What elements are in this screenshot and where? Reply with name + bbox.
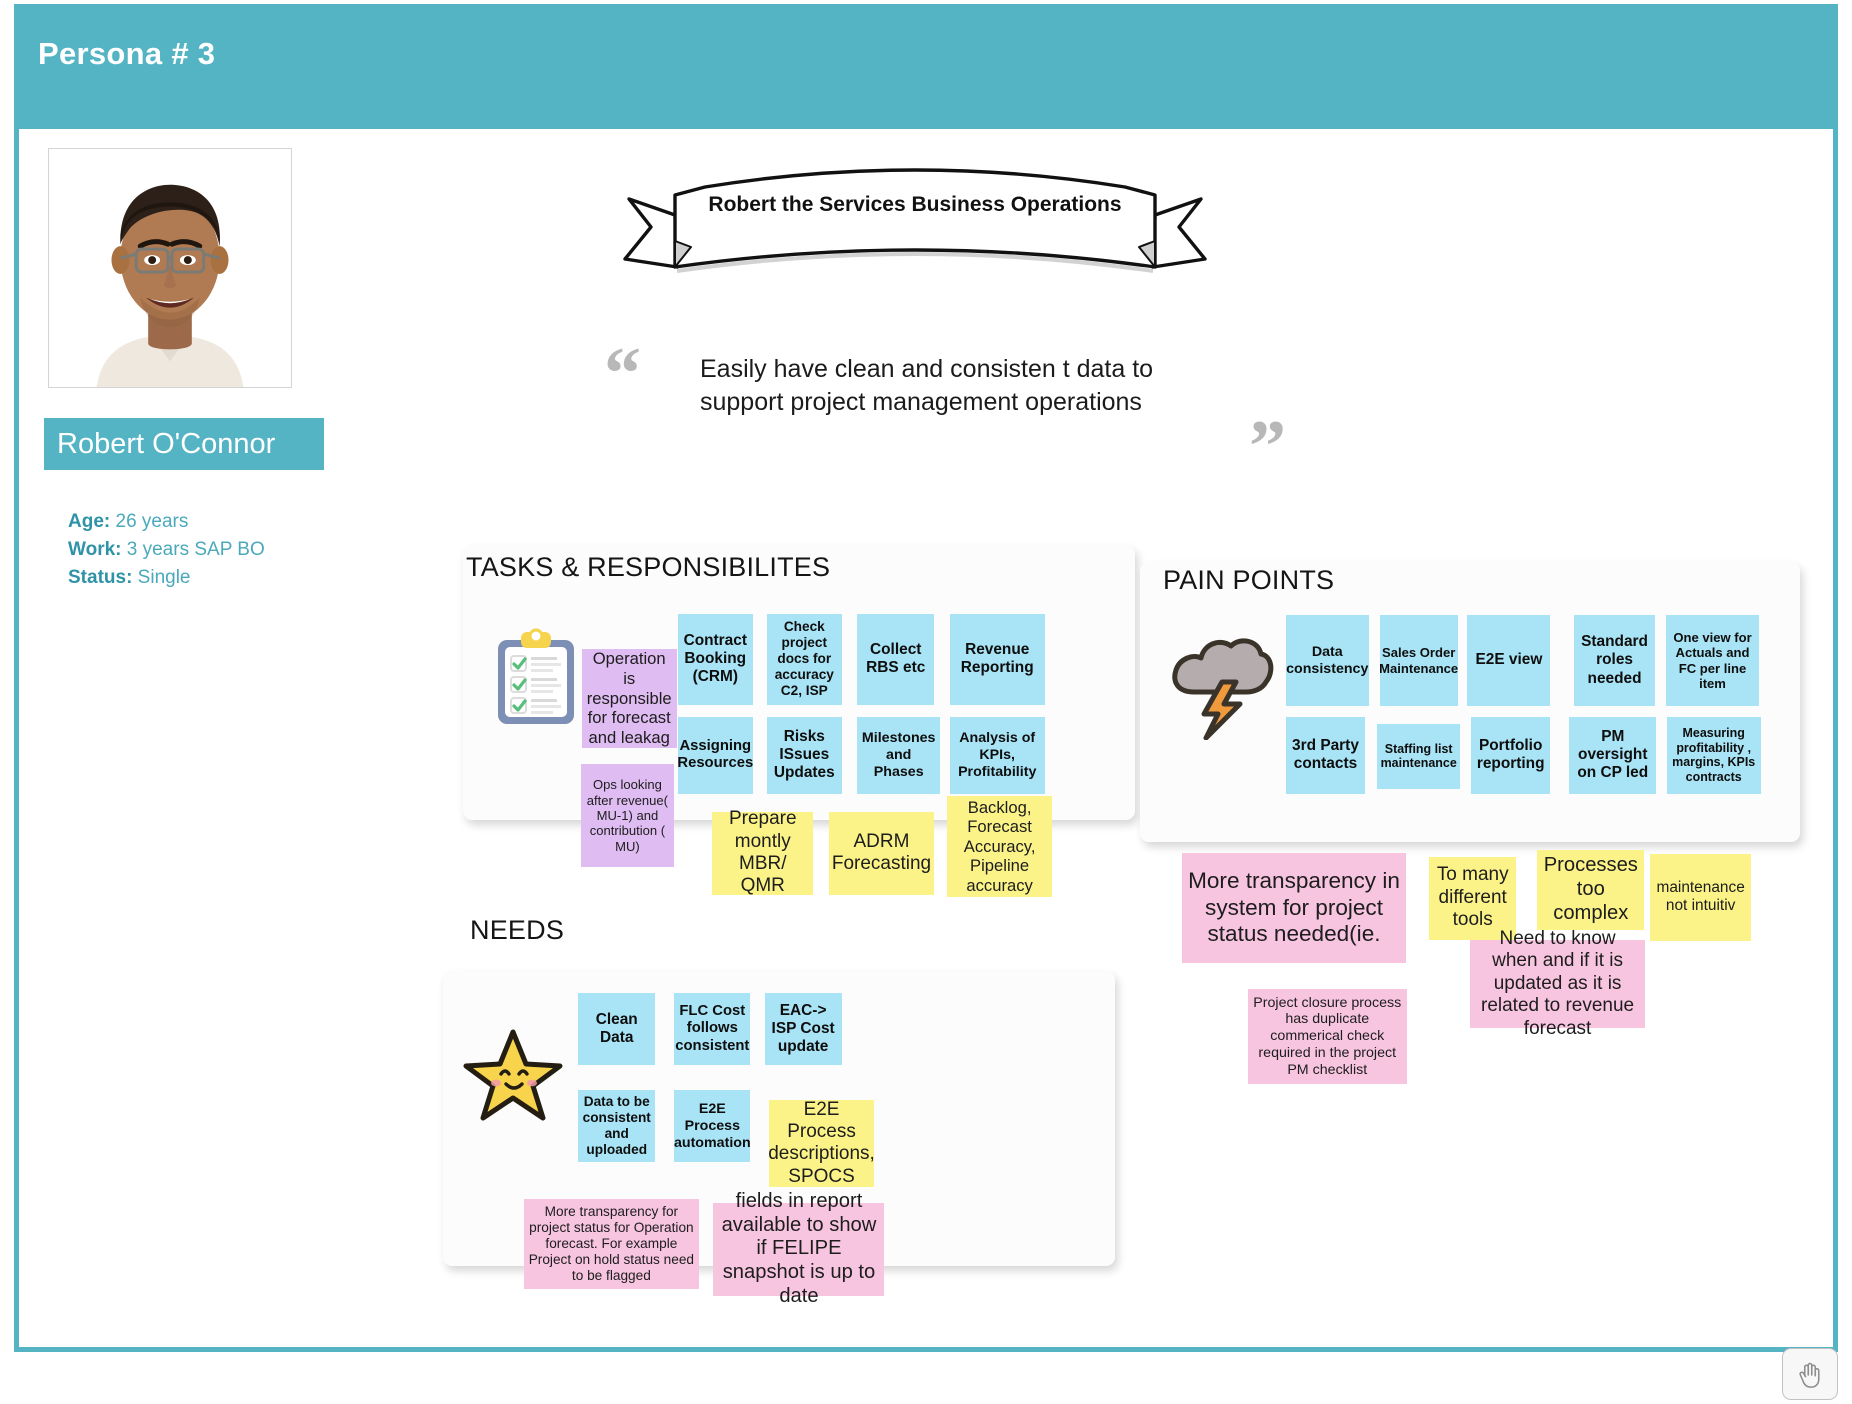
- avatar: [48, 148, 292, 388]
- persona-quote: Easily have clean and consisten t data t…: [700, 353, 1220, 419]
- need-card-7[interactable]: fields in report available to show if FE…: [713, 1203, 884, 1297]
- pain-card-2[interactable]: E2E view: [1467, 615, 1550, 706]
- persona-facts: Age: 26 years Work: 3 years SAP BO Statu…: [68, 508, 265, 592]
- pain-card-10[interactable]: More transparency in system for project …: [1182, 853, 1405, 963]
- clipboard-checklist-icon: [492, 628, 580, 728]
- pain-card-6[interactable]: Staffing list maintenance: [1377, 724, 1460, 789]
- ribbon-banner: Robert the Services Business Operations: [615, 155, 1215, 295]
- pain-card-7[interactable]: Portfolio reporting: [1471, 717, 1551, 794]
- tasks-heading: TASKS & RESPONSIBILITES: [466, 552, 830, 583]
- task-card-7[interactable]: Risks ISsues Updates: [767, 717, 842, 794]
- hand-icon: [1795, 1360, 1825, 1388]
- task-card-10[interactable]: Prepare montly MBR/ QMR: [712, 812, 813, 895]
- portrait-photo-icon: [49, 149, 291, 387]
- task-card-11[interactable]: ADRM Forecasting: [829, 812, 935, 895]
- pain-card-0[interactable]: Data consistency: [1286, 615, 1369, 706]
- task-card-9[interactable]: Analysis of KPIs, Profitability: [950, 717, 1045, 794]
- fact-status-label: Status:: [68, 567, 132, 588]
- need-card-0[interactable]: Clean Data: [578, 993, 655, 1065]
- fact-status-value: Single: [132, 567, 190, 588]
- persona-board: Persona # 3: [0, 0, 1852, 1404]
- header-band: [14, 4, 1838, 129]
- need-card-4[interactable]: E2E Process automation: [674, 1090, 750, 1162]
- fact-work-value: 3 years SAP BO: [121, 539, 264, 560]
- need-card-3[interactable]: Data to be consistent and uploaded: [578, 1090, 655, 1162]
- task-card-0[interactable]: Operation is responsible for forecast an…: [582, 649, 677, 747]
- pain-card-3[interactable]: Standard roles needed: [1574, 615, 1655, 706]
- fact-age-value: 26 years: [110, 511, 188, 532]
- pain-card-5[interactable]: 3rd Party contacts: [1286, 717, 1366, 794]
- fact-age: Age: 26 years: [68, 508, 265, 536]
- page-title: Persona # 3: [38, 36, 215, 72]
- need-card-5[interactable]: E2E Process descriptions, SPOCS: [769, 1100, 873, 1188]
- fact-work-label: Work:: [68, 539, 121, 560]
- fact-work: Work: 3 years SAP BO: [68, 536, 265, 564]
- persona-name-plate: Robert O'Connor: [44, 418, 324, 470]
- right-accent-rail: [1833, 129, 1838, 1347]
- task-card-12[interactable]: Backlog, Forecast Accuracy, Pipeline acc…: [947, 796, 1051, 897]
- hand-tool-button[interactable]: [1782, 1348, 1838, 1400]
- pain-card-12[interactable]: Processes too complex: [1537, 850, 1644, 931]
- pain-card-4[interactable]: One view for Actuals and FC per line ite…: [1666, 615, 1760, 706]
- ribbon-icon: [615, 155, 1215, 295]
- pain-points-heading: PAIN POINTS: [1163, 565, 1334, 596]
- needs-heading: NEEDS: [470, 915, 564, 946]
- need-card-1[interactable]: FLC Cost follows consistent: [674, 993, 750, 1065]
- bottom-accent-rail: [14, 1347, 1838, 1352]
- task-card-3[interactable]: Check project docs for accuracy C2, ISP: [767, 614, 842, 705]
- task-card-2[interactable]: Contract Booking (CRM): [678, 614, 753, 705]
- task-card-6[interactable]: Assigning Resources: [678, 717, 753, 794]
- task-card-5[interactable]: Revenue Reporting: [950, 614, 1045, 705]
- pain-card-14[interactable]: Need to know when and if it is updated a…: [1470, 940, 1646, 1029]
- fact-age-label: Age:: [68, 511, 110, 532]
- left-accent-rail: [14, 129, 19, 1347]
- persona-name: Robert O'Connor: [44, 428, 275, 461]
- star-icon: [463, 1026, 563, 1122]
- fact-status: Status: Single: [68, 564, 265, 592]
- quote-open-mark: “: [604, 352, 641, 396]
- quote-close-mark: ”: [1249, 425, 1286, 469]
- pain-card-13[interactable]: maintenance not intuitiv: [1650, 854, 1751, 940]
- need-card-2[interactable]: EAC-> ISP Cost update: [765, 993, 842, 1065]
- task-card-4[interactable]: Collect RBS etc: [857, 614, 934, 705]
- pain-card-1[interactable]: Sales Order Maintenance: [1380, 615, 1458, 706]
- pain-card-8[interactable]: PM oversight on CP led: [1569, 717, 1656, 794]
- pain-card-9[interactable]: Measuring profitability , margins, KPIs …: [1667, 717, 1761, 794]
- pain-card-15[interactable]: Project closure process has duplicate co…: [1248, 989, 1407, 1084]
- storm-cloud-icon: [1168, 620, 1274, 740]
- task-card-8[interactable]: Milestones and Phases: [857, 717, 940, 794]
- task-card-1[interactable]: Ops looking after revenue( MU-1) and con…: [581, 764, 675, 867]
- need-card-6[interactable]: More transparency for project status for…: [524, 1199, 700, 1289]
